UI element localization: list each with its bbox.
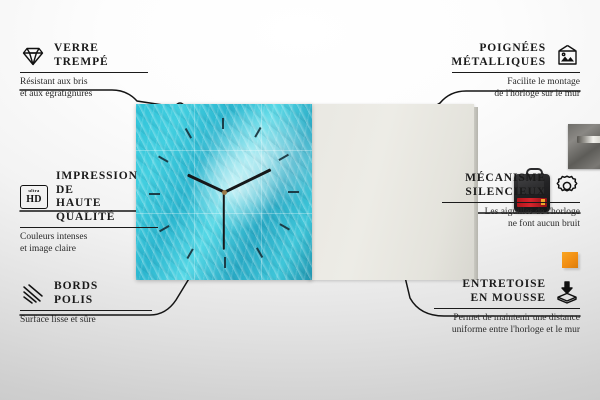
feature-title: POIGNÉES MÉTALLIQUES — [451, 42, 546, 69]
feature-title: MÉCANISME SILENCIEUX — [465, 172, 546, 199]
polished-edge-lines-icon — [20, 281, 46, 307]
feature-mecanisme-silencieux: MÉCANISME SILENCIEUX Les aiguilles de l'… — [442, 172, 580, 230]
diamond-icon — [20, 43, 46, 69]
handle-plate-slot — [577, 136, 600, 143]
product-photo — [136, 104, 474, 280]
feature-divider — [452, 72, 580, 73]
wall-frame-icon — [554, 43, 580, 69]
glass-reflection-line — [136, 150, 312, 151]
infographic-canvas: VERRE TREMPÉ Résistant aux bris et aux é… — [0, 0, 600, 400]
feature-poignees-metalliques: POIGNÉES MÉTALLIQUES Facilite le montage… — [452, 42, 580, 100]
feature-bords-polis: BORDS POLIS Surface lisse et sûre — [20, 280, 152, 327]
feature-divider — [434, 308, 580, 309]
feature-title: BORDS POLIS — [54, 280, 98, 307]
glass-reflection-line — [194, 104, 195, 280]
feature-subtitle: Couleurs intenses et image claire — [20, 232, 158, 255]
feature-title: VERRE TREMPÉ — [54, 42, 109, 69]
clock-face — [136, 104, 312, 280]
feature-divider — [20, 227, 158, 228]
feature-subtitle: Les aiguilles de l'horloge ne font aucun… — [442, 207, 580, 230]
clock-hands-hub — [222, 190, 227, 195]
second-hand — [223, 192, 225, 250]
foam-spacer-arrow-icon — [554, 279, 580, 305]
feature-subtitle: Permet de maintenir une distance uniform… — [434, 313, 580, 336]
feature-divider — [442, 202, 580, 203]
feature-divider — [20, 310, 152, 311]
feature-impression-haute-qualite: ultra HD IMPRESSION DE HAUTE QUALITÉ Cou… — [20, 170, 158, 255]
ultra-hd-icon: ultra HD — [20, 185, 48, 209]
ultra-hd-icon-large-text: HD — [26, 195, 41, 205]
feature-subtitle: Facilite le montage de l'horloge sur le … — [452, 77, 580, 100]
gear-icon — [554, 173, 580, 199]
feature-subtitle: Surface lisse et sûre — [20, 315, 152, 327]
feature-verre-trempe: VERRE TREMPÉ Résistant aux bris et aux é… — [20, 42, 148, 100]
feature-entretoise-en-mousse: ENTRETOISE EN MOUSSE Permet de maintenir… — [434, 278, 580, 336]
feature-subtitle: Résistant aux bris et aux égratignures — [20, 77, 148, 100]
feature-title: IMPRESSION DE HAUTE QUALITÉ — [56, 170, 158, 224]
feature-divider — [20, 72, 148, 73]
metal-handle-plate — [568, 124, 600, 169]
feature-title: ENTRETOISE EN MOUSSE — [462, 278, 546, 305]
foam-spacer — [562, 252, 578, 268]
